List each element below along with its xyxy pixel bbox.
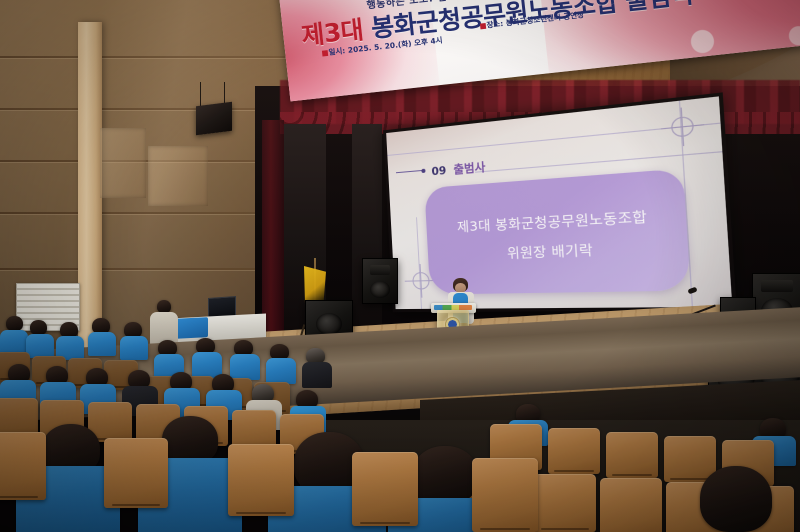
slide-highlight-box: 제3대 봉화군청공무원노동조합 위원장 배기락 xyxy=(424,168,690,294)
slide-header-lead-line xyxy=(396,170,423,173)
slide-crosshair-mark xyxy=(412,272,430,290)
slide-header-bullet xyxy=(421,168,425,172)
slide-box-line-1: 제3대 봉화군청공무원노동조합 xyxy=(457,205,648,236)
seat-foreground xyxy=(0,432,46,500)
slide-crosshair-mark xyxy=(671,116,695,138)
seat-foreground xyxy=(472,458,538,532)
slide-header: 09출범사 xyxy=(431,158,486,179)
audience-head xyxy=(30,320,47,335)
stage-speaker-left-upper xyxy=(362,258,398,304)
slide-section-number: 09 xyxy=(431,165,446,179)
seat xyxy=(606,432,658,478)
seat xyxy=(548,428,600,474)
projection-screen-frame: 09출범사 제3대 봉화군청공무원노동조합 위원장 배기락 xyxy=(383,92,737,312)
slide-section-title: 출범사 xyxy=(453,160,486,176)
audience-body-blue xyxy=(230,354,260,380)
projection-screen: 09출범사 제3대 봉화군청공무원노동조합 위원장 배기락 xyxy=(386,96,732,309)
seat xyxy=(534,474,596,532)
audience-head-foreground xyxy=(162,416,218,464)
audience-body-blue xyxy=(88,332,116,356)
seat xyxy=(600,478,662,532)
audience-head xyxy=(6,316,23,331)
auditorium-event-photo: 행동하는 노조! 힘이되는 노조 제3대 봉화군청공무원노동조합 출범식 ■일시… xyxy=(0,0,800,532)
banner-when-label: 일시: xyxy=(328,46,346,57)
audience-body-blue xyxy=(120,336,148,360)
audience-head-foreground xyxy=(412,446,478,504)
audience-body-dark xyxy=(302,362,332,388)
slide-box-line-2: 위원장 배기락 xyxy=(506,238,593,262)
banner-where-label: 장소: xyxy=(486,19,504,30)
stage-pillar xyxy=(352,124,382,338)
av-operator xyxy=(150,300,178,346)
audience-head-foreground xyxy=(700,466,772,532)
control-desk-blue-panel xyxy=(174,317,208,339)
seat xyxy=(664,436,716,482)
audience-body-blue xyxy=(266,358,296,384)
seat-foreground xyxy=(228,444,294,516)
audience-body-blue xyxy=(0,330,28,354)
seat-foreground xyxy=(104,438,168,508)
seat-foreground xyxy=(352,452,418,526)
audience-body-blue xyxy=(26,334,54,358)
